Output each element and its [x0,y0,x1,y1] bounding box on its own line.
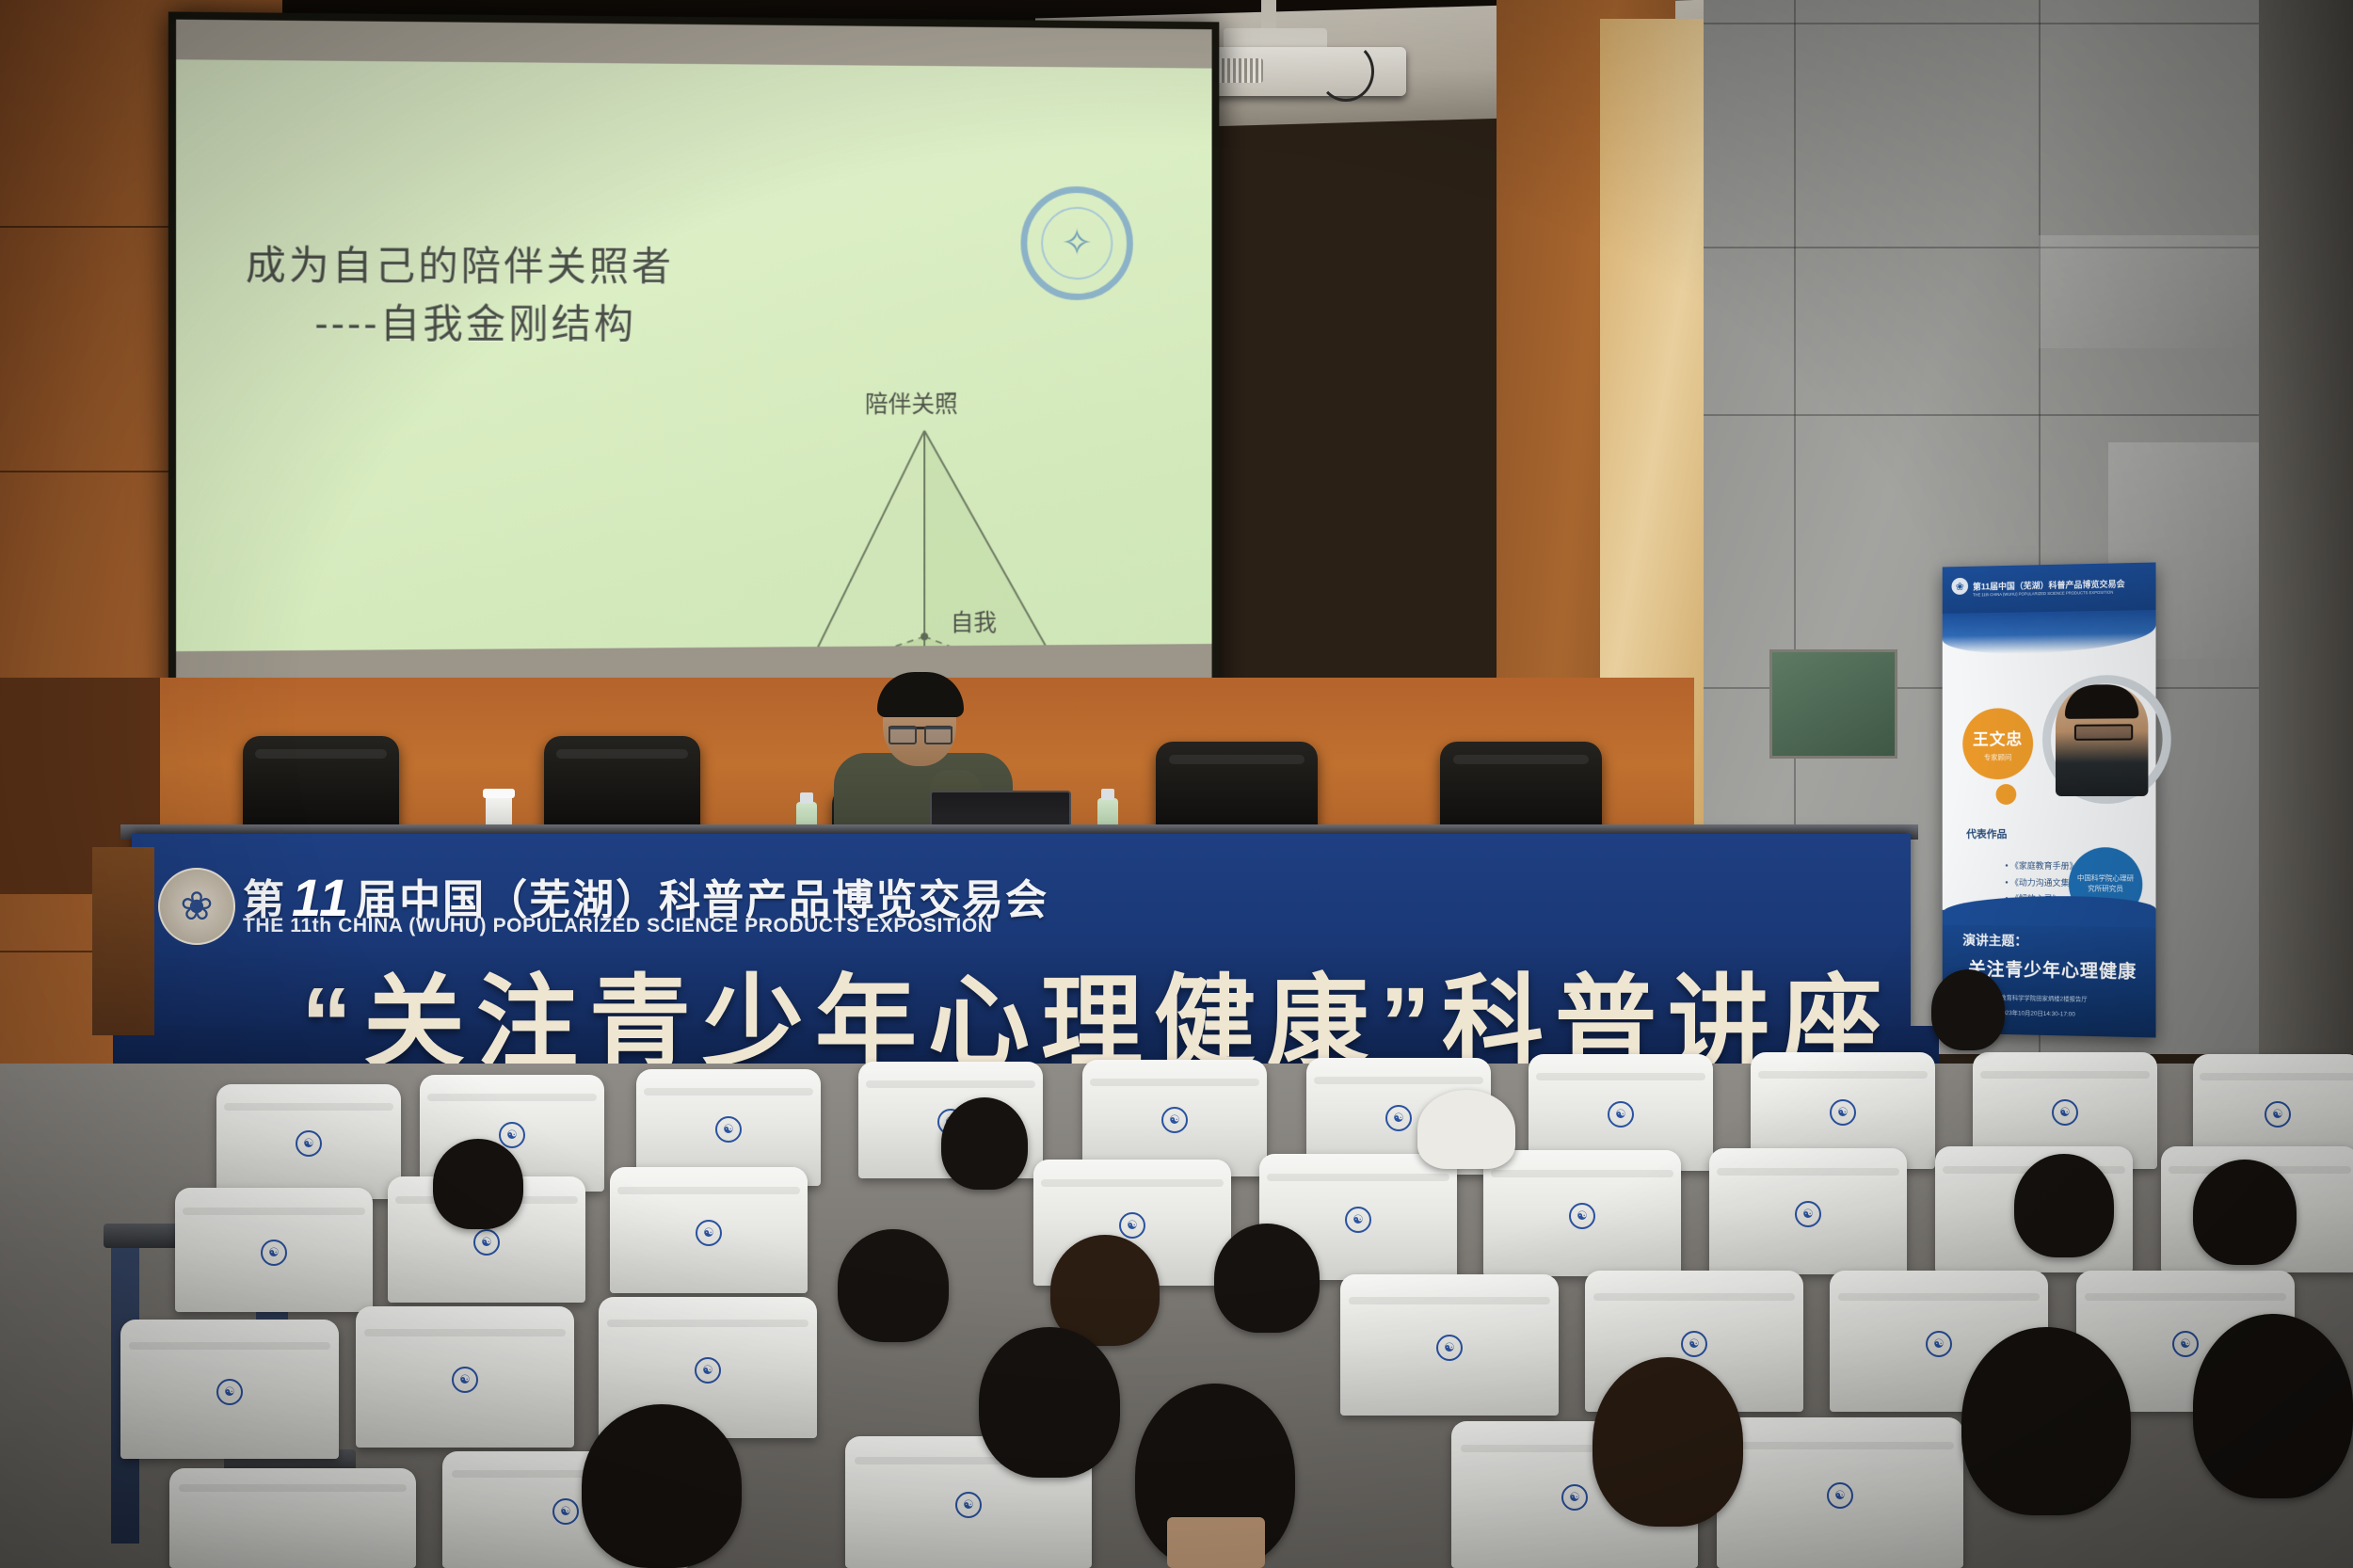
poster-speaker-name: 王文忠 [1973,726,2023,749]
list-item: 《家庭教育手册》 [2005,858,2077,875]
audience-head-with-cap [1417,1090,1515,1169]
poster-accent-dot [1996,784,2017,805]
institute-logo-glyph: ✧ [1041,207,1112,280]
audience-head [433,1139,523,1229]
speaker-rollup-poster: ❀ 第11届中国（芜湖）科普产品博览交易会 THE 11th CHINA (WU… [1943,562,2156,1037]
far-right-wall [2259,0,2353,1054]
poster-speaker-role: 专家顾问 [1984,752,2012,762]
seat-crest-icon: ☯ [1161,1107,1188,1133]
audience-head [2193,1314,2353,1498]
seat-crest-icon: ☯ [1436,1335,1463,1361]
audience-seat: ☯ [1717,1417,1963,1568]
seat-crest-icon: ☯ [2172,1331,2199,1357]
seat-crest-icon: ☯ [499,1122,525,1148]
poster-topic-label: 演讲主题： [1962,931,2027,951]
seat-crest-icon: ☯ [1119,1212,1145,1239]
seat-crest-icon: ☯ [216,1379,243,1405]
audience-head [1931,969,2005,1050]
seat-crest-icon: ☯ [2265,1101,2291,1128]
seat-crest-icon: ☯ [552,1498,579,1525]
seat-crest-icon: ☯ [452,1367,478,1393]
poster-speaker-photo [2056,684,2148,796]
audience-seat: ☯ [1483,1150,1681,1276]
presenter-glasses-icon [888,727,952,743]
projection-screen: 成为自己的陪伴关照者 ----自我金刚结构 ✧ [168,11,1219,746]
audience-head [1961,1327,2131,1515]
seat-crest-icon: ☯ [1569,1203,1595,1229]
seat-crest-icon: ☯ [715,1116,742,1143]
seat-crest-icon: ☯ [1345,1207,1371,1233]
list-item: 《动力沟通文集》 [2005,874,2077,891]
audience-seat: ☯ [216,1084,401,1199]
slide-title-line1: 成为自己的陪伴关照者 [246,237,674,296]
poster-topic-text: 关注青少年心理健康 [1968,955,2137,984]
poster-emblem-icon: ❀ [1951,578,1968,595]
audience-head [979,1327,1120,1478]
seat-crest-icon: ☯ [1608,1101,1634,1128]
seat-crest-icon: ☯ [261,1240,287,1266]
audience-head [838,1229,949,1342]
seat-crest-icon: ☯ [1385,1105,1412,1131]
audience-seat: ☯ [175,1188,373,1312]
poster-header-wave [1943,610,2156,655]
audience-seat [169,1468,416,1568]
seat-crest-icon: ☯ [296,1130,322,1157]
lecture-hall-photo: 成为自己的陪伴关照者 ----自我金刚结构 ✧ [0,0,2353,1568]
seat-crest-icon: ☯ [2052,1099,2078,1126]
exposition-emblem-icon: ❀ [158,868,235,945]
audience-head [582,1404,742,1568]
wall-glass-panel [1769,649,1897,759]
seat-crest-icon: ☯ [1795,1201,1821,1227]
seat-crest-icon: ☯ [1827,1482,1853,1509]
audience-head [941,1097,1028,1190]
poster-photo-hair [2065,684,2138,719]
tetrahedron-svg [672,328,1192,651]
seat-crest-icon: ☯ [1561,1484,1588,1511]
seat-crest-icon: ☯ [1830,1099,1856,1126]
audience-seat: ☯ [120,1320,339,1459]
diagram-label-apex: 陪伴关照 [865,386,958,420]
slide-title: 成为自己的陪伴关照者 ----自我金刚结构 [246,237,674,354]
audience-seat: ☯ [610,1167,808,1293]
poster-photo-glasses-icon [2074,724,2133,740]
seat-crest-icon: ☯ [955,1492,982,1518]
audience-seat: ☯ [1709,1148,1907,1274]
seat-crest-icon: ☯ [1681,1331,1707,1357]
tetrahedron-diagram: 陪伴关照 自我 身体 思想 感觉 [672,328,1192,651]
audience-head [1593,1357,1743,1527]
slide-title-line2: ----自我金刚结构 [314,296,674,354]
institute-logo-icon: ✧ [1021,186,1133,300]
audience-head [1214,1224,1320,1333]
projector-cable [1318,41,1374,102]
side-podium [92,847,154,1035]
presentation-slide: 成为自己的陪伴关照者 ----自我金刚结构 ✧ [176,59,1211,651]
diagram-label-center: 自我 [951,604,997,638]
banner-subtitle-en: THE 11th CHINA (WUHU) POPULARIZED SCIENC… [243,915,993,937]
poster-name-bubble: 王文忠 专家顾问 [1962,708,2033,779]
seat-crest-icon: ☯ [1926,1331,1952,1357]
seat-crest-icon: ☯ [696,1220,722,1246]
audience-head [2014,1154,2114,1257]
poster-works-title: 代表作品 [1966,826,2007,841]
audience-neck [1167,1517,1265,1568]
audience-seat: ☯ [1340,1274,1559,1416]
audience-head [2193,1160,2297,1265]
audience-seat: ☯ [356,1306,574,1448]
seat-crest-icon: ☯ [473,1229,500,1256]
seat-crest-icon: ☯ [695,1357,721,1384]
